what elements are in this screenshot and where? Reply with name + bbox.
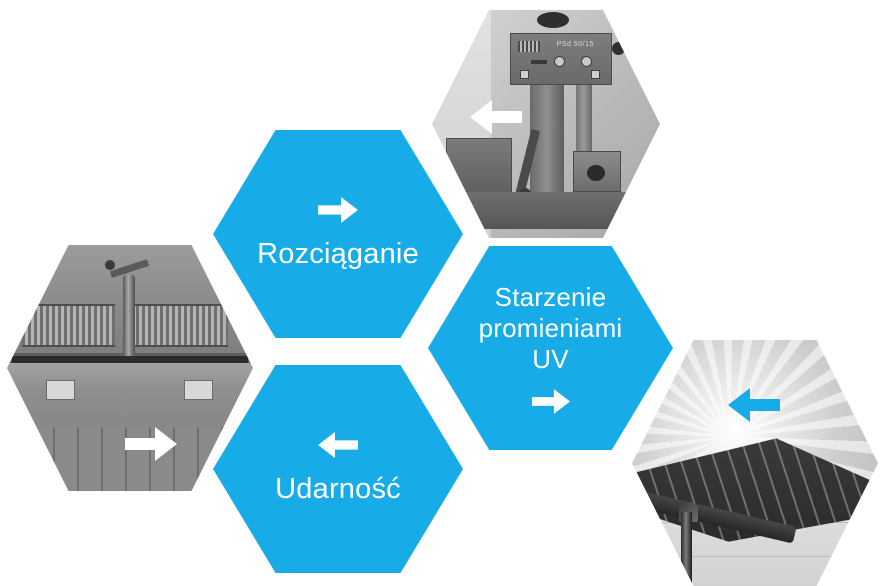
hex-label-tensile: Rozciąganie [257,237,419,271]
hex-cell-impact-photo[interactable]: PSd 50/15 [432,10,660,238]
hex-cell-uv[interactable]: Starzenie promieniami UV [428,246,673,450]
arrow-right-icon [125,427,177,466]
hex-cell-roof-photo[interactable] [632,340,878,586]
hex-label-impact: Udarność [275,472,401,506]
photo-impact-machine: PSd 50/15 [432,10,660,238]
hex-cell-tensile[interactable]: Rozciąganie [213,130,463,338]
machine-label: PSd 50/15 [557,41,594,48]
diagram-canvas: PSd 50/15 [0,0,880,585]
hex-cell-tensile-photo[interactable] [7,245,253,491]
hex-label-uv: Starzenie promieniami UV [479,282,623,374]
arrow-right-icon [318,197,358,223]
hex-cell-impact[interactable]: Udarność [213,365,463,573]
arrow-left-icon [318,432,358,458]
arrow-right-icon [532,389,570,414]
photo-roof-gutter [632,340,878,586]
arrow-left-icon [728,388,780,427]
arrow-left-icon [470,100,522,139]
